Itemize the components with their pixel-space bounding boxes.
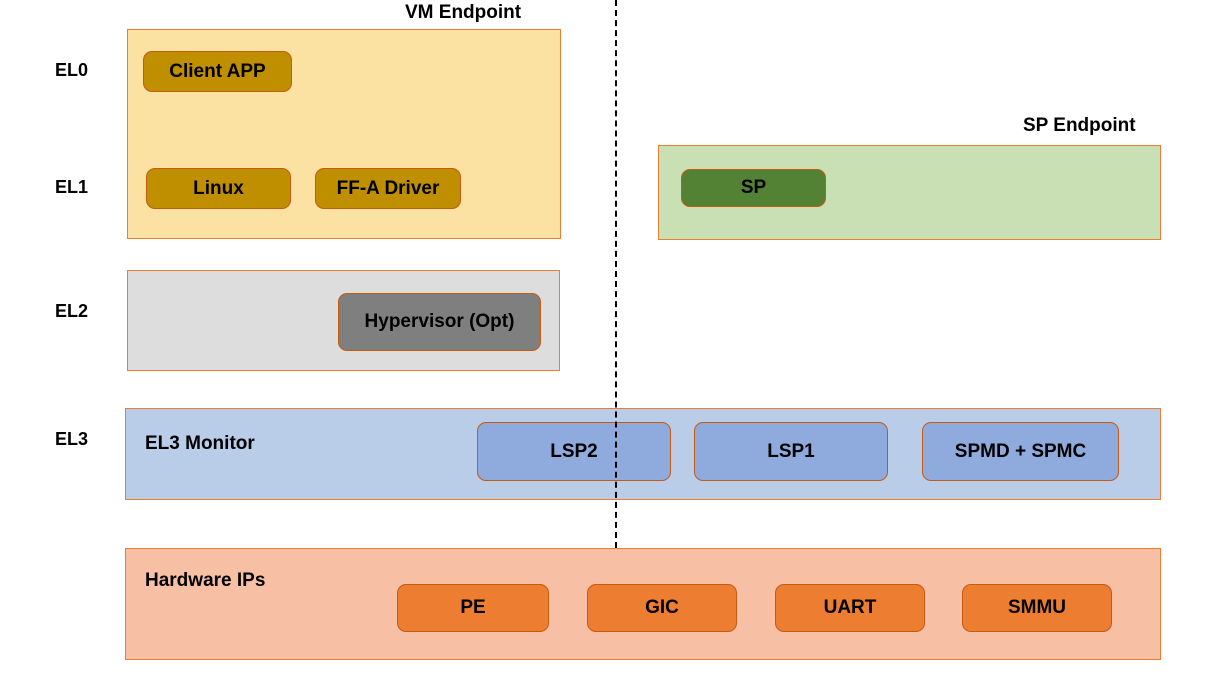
hardware-ips-label: Hardware IPs: [145, 571, 265, 590]
component-gic[interactable]: GIC: [587, 584, 737, 632]
exception-level-label-el2: EL2: [55, 302, 88, 320]
component-gic-label: GIC: [645, 597, 679, 619]
component-smmu[interactable]: SMMU: [962, 584, 1112, 632]
hardware-ips-band: Hardware IPs PE GIC UART SMMU: [125, 548, 1161, 660]
component-spmd-spmc[interactable]: SPMD + SPMC: [922, 422, 1119, 481]
component-linux[interactable]: Linux: [146, 168, 291, 209]
diagram-canvas: EL0 EL1 EL2 EL3 VM Endpoint Client APP L…: [0, 0, 1211, 698]
world-divider-line: [615, 0, 617, 548]
component-lsp2[interactable]: LSP2: [477, 422, 671, 481]
component-pe-label: PE: [460, 597, 485, 619]
component-lsp2-label: LSP2: [550, 441, 598, 463]
el3-monitor-label: EL3 Monitor: [145, 434, 255, 453]
el3-monitor-band: EL3 Monitor LSP2 LSP1 SPMD + SPMC: [125, 408, 1161, 500]
component-linux-label: Linux: [193, 178, 244, 200]
sp-endpoint-title: SP Endpoint: [1023, 116, 1136, 135]
component-pe[interactable]: PE: [397, 584, 549, 632]
component-hypervisor[interactable]: Hypervisor (Opt): [338, 293, 541, 351]
component-lsp1-label: LSP1: [767, 441, 815, 463]
exception-level-label-el1: EL1: [55, 178, 88, 196]
exception-level-label-el0: EL0: [55, 61, 88, 79]
component-lsp1[interactable]: LSP1: [694, 422, 888, 481]
component-client-app[interactable]: Client APP: [143, 51, 292, 92]
component-smmu-label: SMMU: [1008, 597, 1066, 619]
vm-endpoint-band: Client APP Linux FF-A Driver: [127, 29, 561, 239]
el2-band: Hypervisor (Opt): [127, 270, 560, 371]
component-client-app-label: Client APP: [169, 61, 265, 83]
vm-endpoint-title: VM Endpoint: [405, 3, 521, 22]
component-ffa-driver[interactable]: FF-A Driver: [315, 168, 461, 209]
component-ffa-driver-label: FF-A Driver: [337, 178, 440, 200]
exception-level-label-el3: EL3: [55, 430, 88, 448]
component-spmd-spmc-label: SPMD + SPMC: [955, 441, 1086, 463]
component-sp-label: SP: [741, 177, 766, 199]
component-uart[interactable]: UART: [775, 584, 925, 632]
component-sp[interactable]: SP: [681, 169, 826, 207]
sp-endpoint-band: SP: [658, 145, 1161, 240]
component-hypervisor-label: Hypervisor (Opt): [365, 311, 515, 333]
component-uart-label: UART: [824, 597, 877, 619]
